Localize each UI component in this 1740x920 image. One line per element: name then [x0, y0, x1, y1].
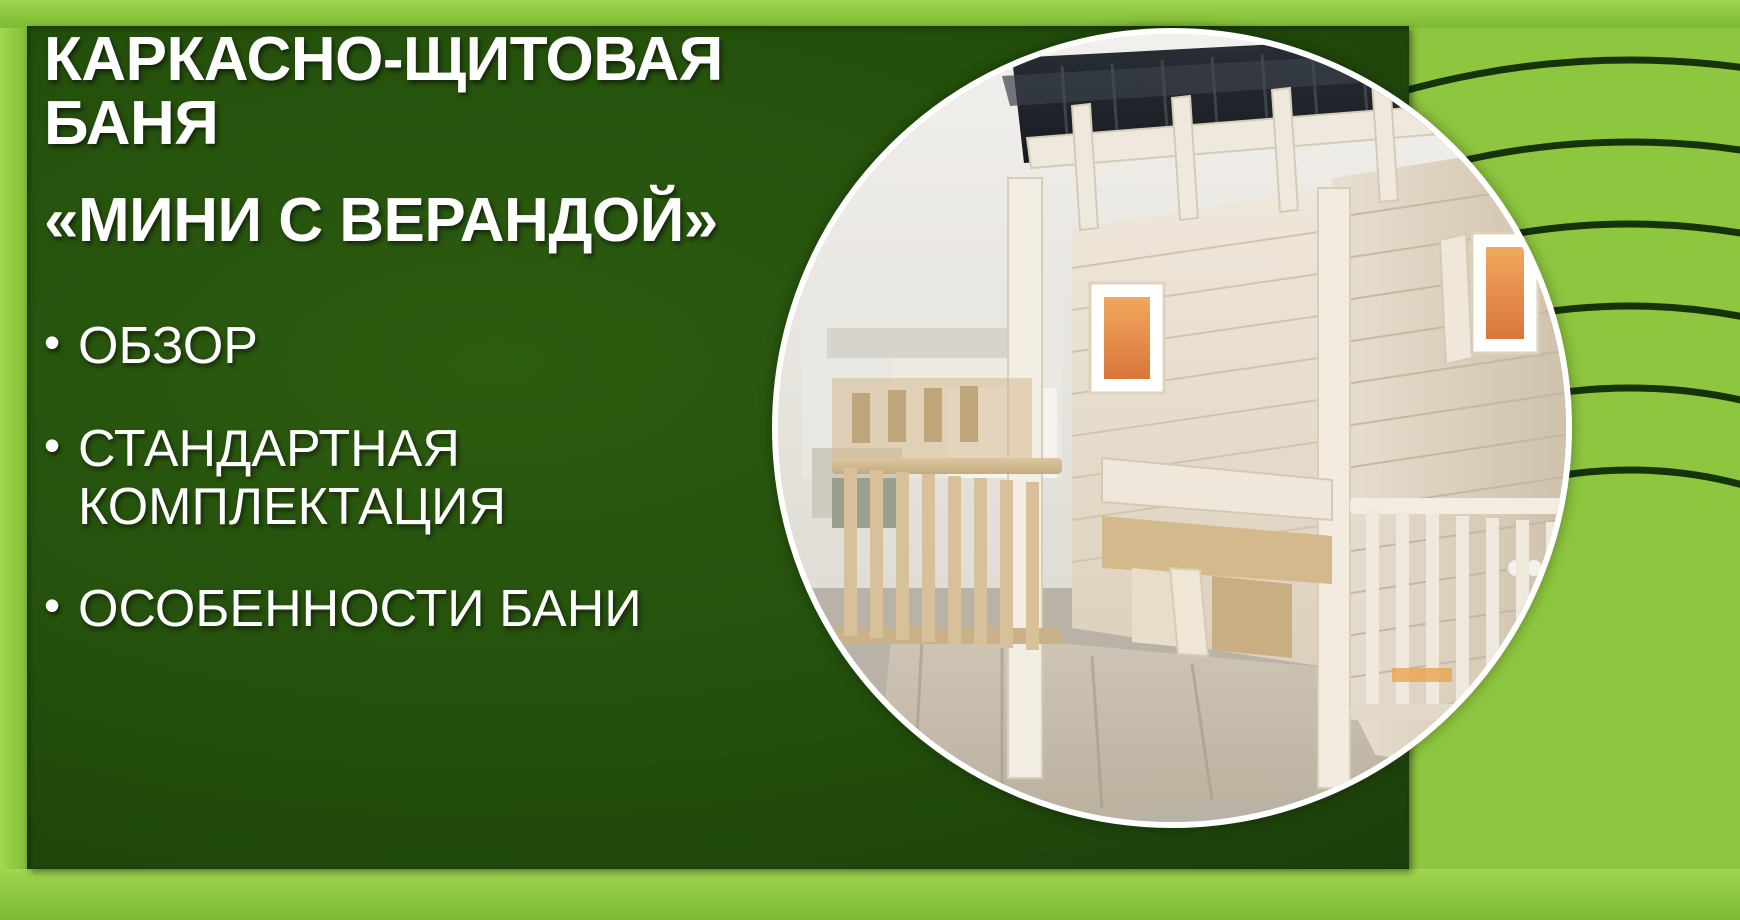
bullet-marker-icon: •: [44, 420, 78, 472]
page-title: КАРКАСНО-ЩИТОВАЯ БАНЯ «МИНИ С ВЕРАНДОЙ»: [44, 28, 804, 253]
title-line-2: БАНЯ: [44, 92, 804, 156]
sauna-photo-scene: [772, 28, 1572, 828]
list-item-label: СТАНДАРТНАЯ КОМПЛЕКТАЦИЯ: [78, 420, 804, 536]
list-item: • ОСОБЕННОСТИ БАНИ: [44, 580, 804, 638]
title-line-1: КАРКАСНО-ЩИТОВАЯ: [44, 28, 804, 92]
bullet-marker-icon: •: [44, 317, 78, 369]
title-line-3: «МИНИ С ВЕРАНДОЙ»: [44, 189, 804, 253]
list-item-label: ОСОБЕННОСТИ БАНИ: [78, 580, 804, 638]
sauna-photo-circle: [772, 28, 1572, 828]
sauna-photo-illustration: [772, 28, 1572, 828]
list-item: • ОБЗОР: [44, 317, 804, 375]
text-content: КАРКАСНО-ЩИТОВАЯ БАНЯ «МИНИ С ВЕРАНДОЙ» …: [44, 28, 804, 682]
list-item-label: ОБЗОР: [78, 317, 804, 375]
bullet-marker-icon: •: [44, 580, 78, 632]
topics-list: • ОБЗОР • СТАНДАРТНАЯ КОМПЛЕКТАЦИЯ • ОСО…: [44, 317, 804, 638]
list-item: • СТАНДАРТНАЯ КОМПЛЕКТАЦИЯ: [44, 420, 804, 536]
slide-root: КАРКАСНО-ЩИТОВАЯ БАНЯ «МИНИ С ВЕРАНДОЙ» …: [0, 0, 1740, 920]
